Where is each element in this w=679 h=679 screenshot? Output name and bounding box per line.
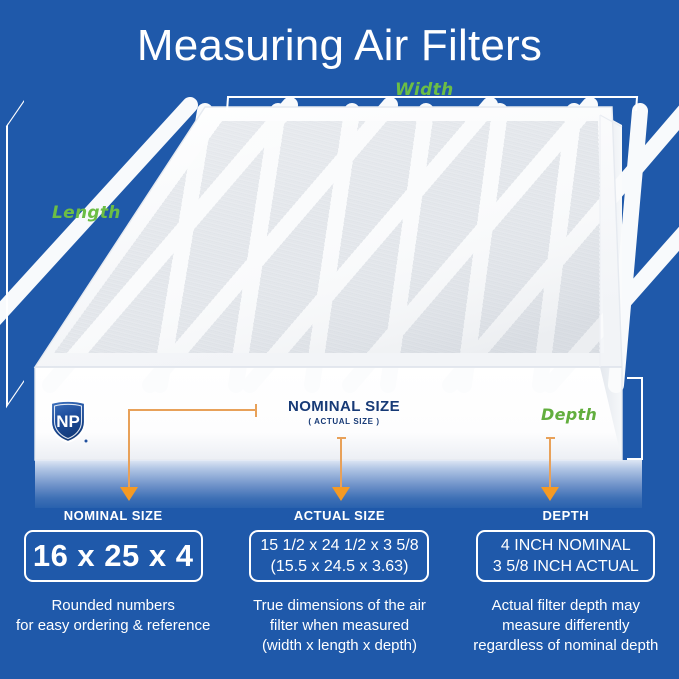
card-actual-size: ACTUAL SIZE 15 1/2 x 24 1/2 x 3 5/8 (15.… [226,508,452,679]
nominal-connector-vertical [128,409,130,489]
card-actual-size-desc-line: filter when measured [232,616,446,636]
card-depth-desc-line: measure differently [459,616,673,636]
depth-connector-vertical [549,437,551,489]
card-depth-desc-line: Actual filter depth may [459,596,673,616]
depth-connector-arrow [541,487,559,501]
length-label: Length [52,203,121,223]
card-actual-size-desc-line: (width x length x depth) [232,636,446,656]
length-bracket [6,100,24,408]
card-actual-size-description: True dimensions of the air filter when m… [232,596,446,656]
nominal-connector-horizontal [128,409,256,411]
card-actual-size-value-line: 15 1/2 x 24 1/2 x 3 5/8 [260,535,418,556]
card-actual-size-value-box: 15 1/2 x 24 1/2 x 3 5/8 (15.5 x 24.5 x 3… [249,530,429,582]
summary-cards: NOMINAL SIZE 16 x 25 x 4 Rounded numbers… [0,508,679,679]
card-nominal-size-title: NOMINAL SIZE [6,508,220,523]
nominal-size-callout: NOMINAL SIZE ( ACTUAL SIZE ) [264,398,424,426]
infographic-root: Measuring Air Filters [0,0,679,679]
nominal-size-callout-title: NOMINAL SIZE [264,398,424,415]
nominal-size-callout-subtitle: ( ACTUAL SIZE ) [264,417,424,426]
svg-text:NP: NP [56,412,80,431]
card-nominal-size-description: Rounded numbers for easy ordering & refe… [6,596,220,636]
nominal-connector-arrow [120,487,138,501]
card-nominal-size-desc-line: for easy ordering & reference [6,616,220,636]
card-depth-desc-line: regardless of nominal depth [459,636,673,656]
np-shield-logo: NP [47,398,91,446]
card-nominal-size-desc-line: Rounded numbers [6,596,220,616]
actual-connector-arrow [332,487,350,501]
page-title: Measuring Air Filters [0,20,679,72]
card-depth-value-box: 4 INCH NOMINAL 3 5/8 INCH ACTUAL [476,530,655,582]
depth-bracket [627,377,643,460]
width-label: Width [395,80,453,100]
card-nominal-size-value-box: 16 x 25 x 4 [24,530,203,582]
card-depth-description: Actual filter depth may measure differen… [459,596,673,656]
card-depth: DEPTH 4 INCH NOMINAL 3 5/8 INCH ACTUAL A… [453,508,679,679]
card-actual-size-value-line: (15.5 x 24.5 x 3.63) [260,556,418,577]
depth-label: Depth [541,405,597,424]
card-depth-title: DEPTH [459,508,673,523]
card-nominal-size-value-line: 16 x 25 x 4 [33,539,194,573]
card-actual-size-desc-line: True dimensions of the air [232,596,446,616]
actual-connector-vertical [340,437,342,489]
card-depth-value-line: 3 5/8 INCH ACTUAL [493,556,639,577]
card-depth-value-line: 4 INCH NOMINAL [493,535,639,556]
card-nominal-size: NOMINAL SIZE 16 x 25 x 4 Rounded numbers… [0,508,226,679]
card-actual-size-title: ACTUAL SIZE [232,508,446,523]
